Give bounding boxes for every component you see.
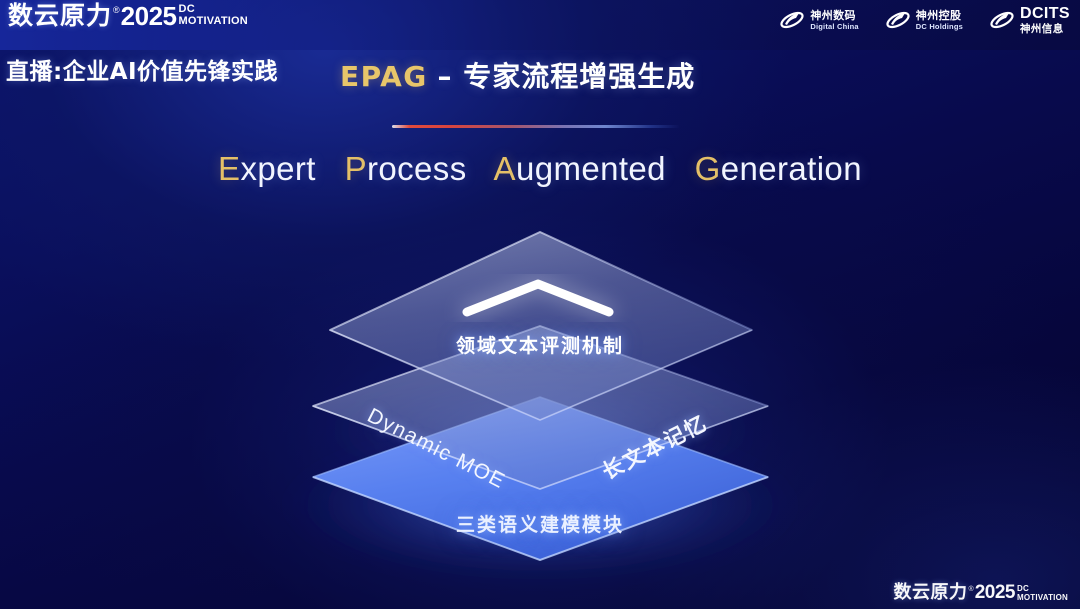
partner-logo-group: 神州数码 Digital China 神州控股 DC Holdings DCIT… [779, 6, 1070, 35]
subtitle-initial: A [494, 150, 516, 187]
brand-year: 2025 [121, 2, 177, 30]
brand-motivation-text: MOTIVATION [179, 15, 248, 27]
watermark-motivation-text: MOTIVATION [1017, 593, 1068, 602]
partner-label: 神州数码 Digital China [810, 10, 858, 31]
brand-dc-text: DC [179, 4, 248, 15]
page-title: EPAG – 专家流程增强生成 [340, 55, 695, 95]
layer-top [330, 232, 752, 420]
swirl-logo-icon [779, 9, 805, 31]
watermark-name-cn: 数云原力 [894, 583, 968, 603]
subtitle-space [676, 150, 686, 187]
brand-name-cn: 数云原力 [8, 2, 112, 30]
subtitle-expansion: Expert Process Augmented Generation [0, 150, 1080, 188]
partner-name-cn: 神州控股 [916, 10, 963, 21]
partner-name-en: DC Holdings [916, 23, 963, 31]
partner-logo-dc-holdings: 神州控股 DC Holdings [885, 9, 963, 31]
subtitle-space [325, 150, 335, 187]
partner-label: DCITS 神州信息 [1020, 6, 1070, 35]
subtitle-initial: G [695, 150, 721, 187]
subtitle-initial: P [345, 150, 367, 187]
bottom-layer-glow [280, 427, 800, 583]
subtitle-initial: E [218, 150, 240, 187]
partner-logo-digital-china: 神州数码 Digital China [779, 9, 858, 31]
footer-watermark: 数云原力 ® 2025 DC MOTIVATION [894, 583, 1068, 603]
watermark-dc-motivation: DC MOTIVATION [1017, 583, 1068, 602]
swirl-logo-icon [989, 9, 1015, 31]
brand-logo: 数云原力 ® 2025 DC MOTIVATION [8, 2, 248, 30]
partner-name-en: DCITS [1020, 6, 1070, 22]
subtitle-remainder: ugmented [516, 150, 666, 187]
watermark-dc-text: DC [1017, 585, 1068, 593]
watermark-registered-mark: ® [969, 585, 974, 594]
partner-name-cn: 神州数码 [810, 10, 858, 21]
layer-label-top: 领域文本评测机制 [0, 331, 1080, 358]
subtitle-word: Augmented [494, 150, 666, 187]
subtitle-remainder: xpert [240, 150, 315, 187]
live-stream-title: 直播:企业AI价值先锋实践 [6, 52, 278, 86]
partner-name-en: Digital China [810, 23, 858, 31]
partner-logo-dcits: DCITS 神州信息 [989, 6, 1070, 35]
brand-registered-mark: ® [113, 4, 120, 16]
page-title-acronym: EPAG [340, 60, 428, 93]
brand-dc-motivation: DC MOTIVATION [179, 2, 248, 27]
slide-canvas: 数云原力 ® 2025 DC MOTIVATION 直播:企业AI价值先锋实践 … [0, 0, 1080, 609]
title-divider [392, 125, 680, 128]
subtitle-remainder: rocess [367, 150, 467, 187]
subtitle-word: Expert [218, 150, 316, 187]
layer-label-bottom: 三类语义建模模块 [0, 510, 1080, 537]
watermark-year: 2025 [975, 583, 1015, 603]
layer-edge-label-dynamic-moe: Dynamic MOE [363, 404, 509, 494]
subtitle-space [476, 150, 486, 187]
layer-edge-label-long-text-memory: 长文本记忆 [596, 407, 712, 486]
chevron-up-icon [467, 284, 609, 312]
subtitle-remainder: eneration [721, 150, 862, 187]
subtitle-word: Generation [695, 150, 862, 187]
subtitle-word: Process [345, 150, 467, 187]
page-title-cn: – 专家流程增强生成 [437, 60, 695, 93]
partner-label: 神州控股 DC Holdings [916, 10, 963, 31]
partner-name-cn: 神州信息 [1020, 24, 1070, 35]
swirl-logo-icon [885, 9, 911, 31]
